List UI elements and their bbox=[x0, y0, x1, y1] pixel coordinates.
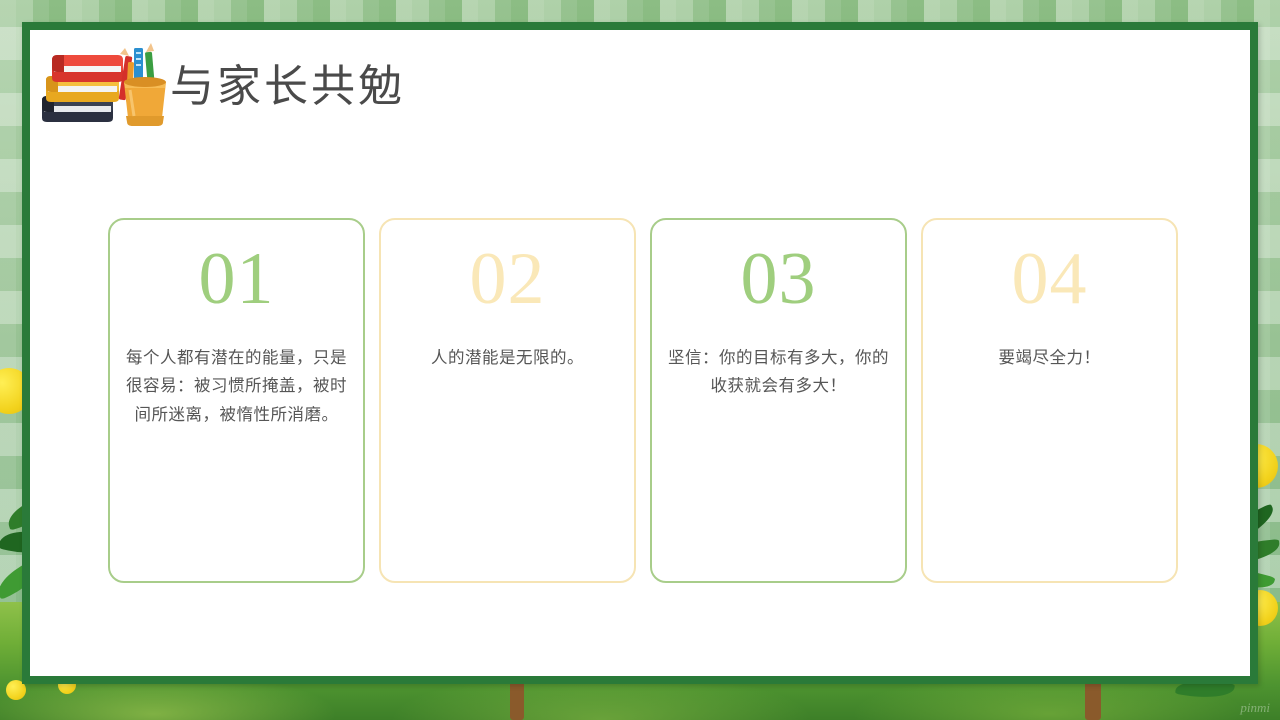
card-text: 要竭尽全力！ bbox=[935, 344, 1164, 372]
card-number: 01 bbox=[110, 242, 363, 316]
slide-canvas: 与家长共勉 01 每个人都有潜在的能量，只是很容易：被习惯所掩盖，被时间所迷离，… bbox=[30, 30, 1250, 676]
books-and-pencil-cup-icon bbox=[30, 38, 170, 133]
card-text: 坚信：你的目标有多大，你的收获就会有多大！ bbox=[664, 344, 893, 401]
page-title: 与家长共勉 bbox=[170, 50, 405, 114]
card-text: 每个人都有潜在的能量，只是很容易：被习惯所掩盖，被时间所迷离，被惰性所消磨。 bbox=[122, 344, 351, 429]
info-card-02[interactable]: 02 人的潜能是无限的。 bbox=[379, 218, 636, 583]
card-number: 02 bbox=[381, 242, 634, 316]
info-card-04[interactable]: 04 要竭尽全力！ bbox=[921, 218, 1178, 583]
card-text: 人的潜能是无限的。 bbox=[393, 344, 622, 372]
slide-header: 与家长共勉 bbox=[30, 30, 1250, 150]
slide-root: 与家长共勉 01 每个人都有潜在的能量，只是很容易：被习惯所掩盖，被时间所迷离，… bbox=[0, 0, 1280, 720]
cards-row: 01 每个人都有潜在的能量，只是很容易：被习惯所掩盖，被时间所迷离，被惰性所消磨… bbox=[108, 218, 1178, 583]
watermark: pinmi bbox=[1240, 700, 1270, 716]
info-card-01[interactable]: 01 每个人都有潜在的能量，只是很容易：被习惯所掩盖，被时间所迷离，被惰性所消磨… bbox=[108, 218, 365, 583]
info-card-03[interactable]: 03 坚信：你的目标有多大，你的收获就会有多大！ bbox=[650, 218, 907, 583]
card-number: 03 bbox=[652, 242, 905, 316]
card-number: 04 bbox=[923, 242, 1176, 316]
